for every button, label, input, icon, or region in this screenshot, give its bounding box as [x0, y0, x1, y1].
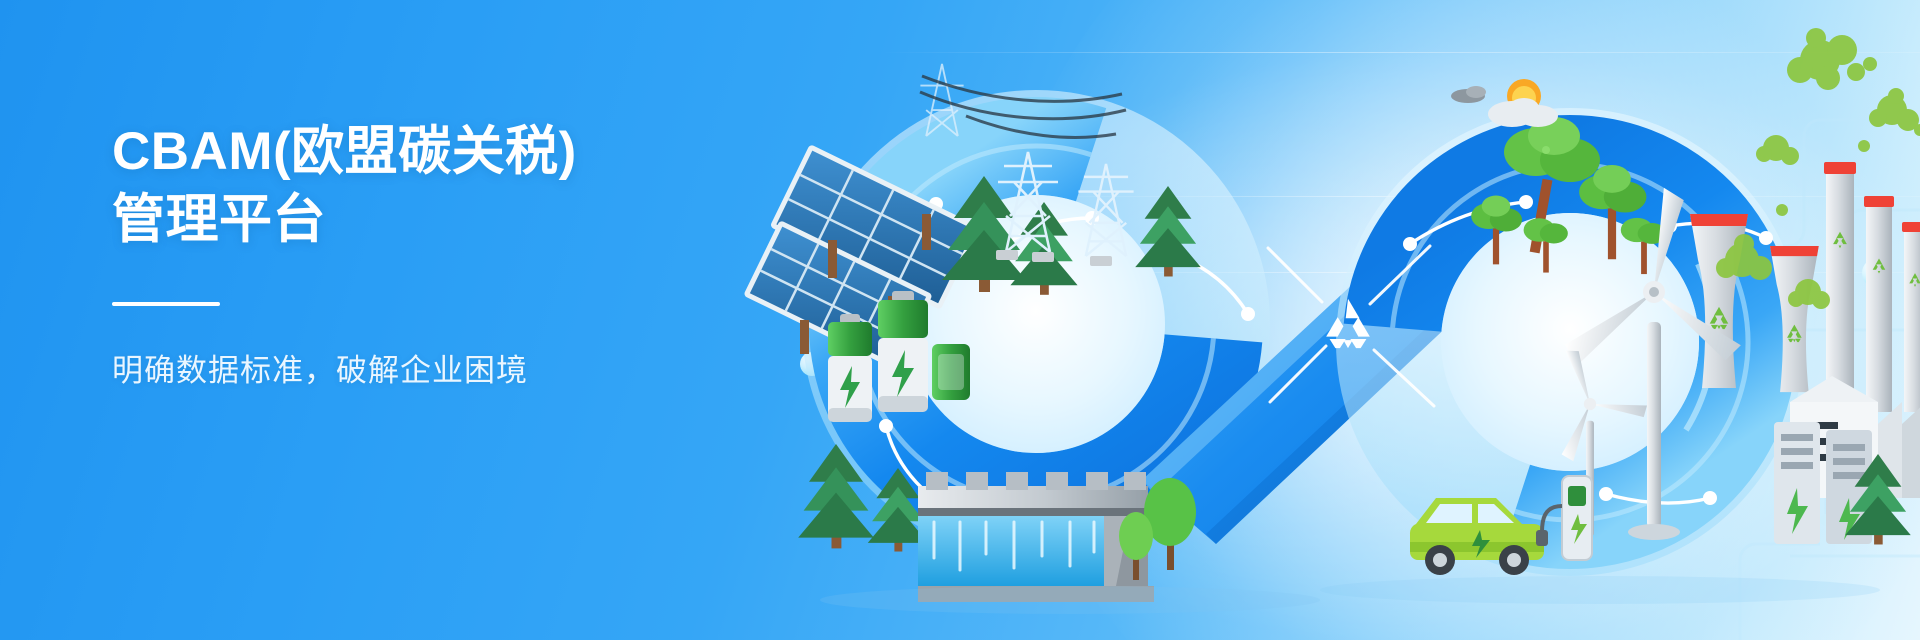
cbam-hero-banner: CBAM(欧盟碳关税) 管理平台 明确数据标准，破解企业困境	[0, 0, 1920, 640]
sun-with-clouds	[1451, 79, 1558, 127]
page-title-line-1: CBAM(欧盟碳关税)	[112, 118, 752, 186]
page-title: CBAM(欧盟碳关税) 管理平台	[112, 118, 752, 254]
page-title-line-2: 管理平台	[112, 186, 752, 254]
ground-shadow	[820, 586, 1320, 614]
hydro-dam	[918, 472, 1154, 602]
title-divider	[112, 302, 220, 306]
ground-shadow	[1320, 576, 1880, 604]
circular-economy-illustration	[770, 24, 1920, 624]
hero-copy: CBAM(欧盟碳关税) 管理平台 明确数据标准，破解企业困境	[112, 118, 752, 392]
page-subtitle: 明确数据标准，破解企业困境	[112, 350, 752, 392]
